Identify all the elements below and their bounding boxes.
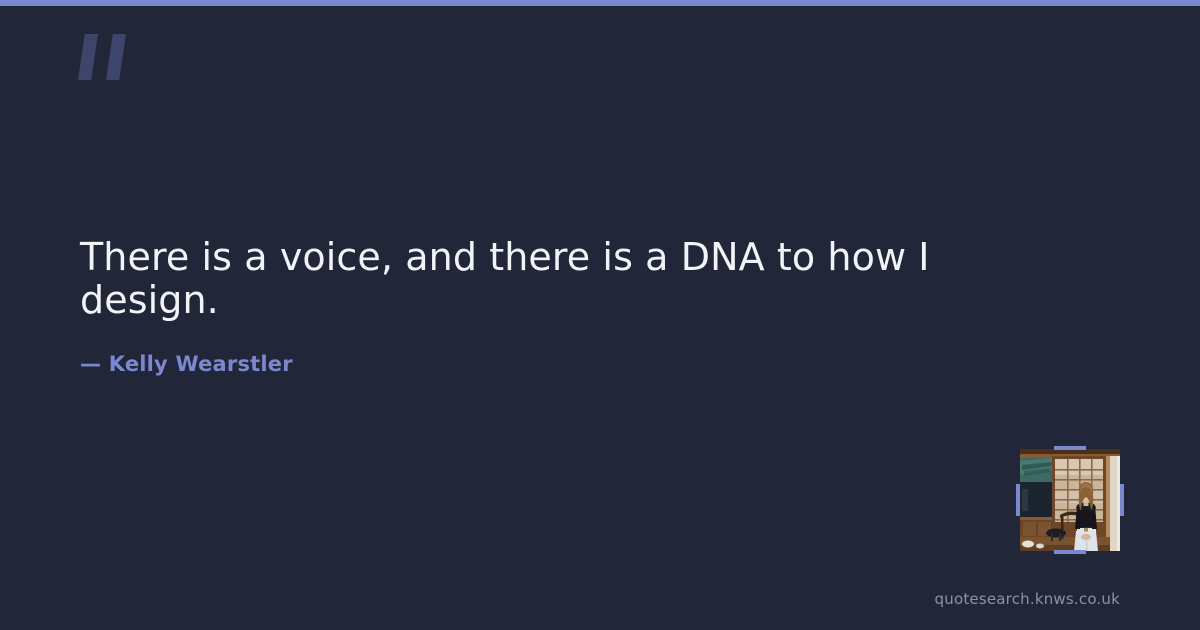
quote-attribution: — Kelly Wearstler xyxy=(80,352,960,376)
top-accent-bar xyxy=(0,0,1200,6)
thumbnail-container[interactable] xyxy=(1020,449,1120,551)
quote-mark-stroke-left xyxy=(78,34,98,80)
resize-handle-top[interactable] xyxy=(1054,446,1086,450)
resize-handle-right[interactable] xyxy=(1120,484,1124,516)
source-url[interactable]: quotesearch.knws.co.uk xyxy=(935,590,1120,608)
thumbnail-artwork xyxy=(1020,449,1120,551)
left-double-quotation-mark-icon xyxy=(78,34,138,86)
quote-text: There is a voice, and there is a DNA to … xyxy=(80,236,960,321)
quote-mark-stroke-right xyxy=(106,34,126,80)
author-thumbnail-image[interactable] xyxy=(1020,449,1120,551)
resize-handle-bottom[interactable] xyxy=(1054,550,1086,554)
resize-handle-left[interactable] xyxy=(1016,484,1020,516)
quote-block: There is a voice, and there is a DNA to … xyxy=(80,236,960,376)
